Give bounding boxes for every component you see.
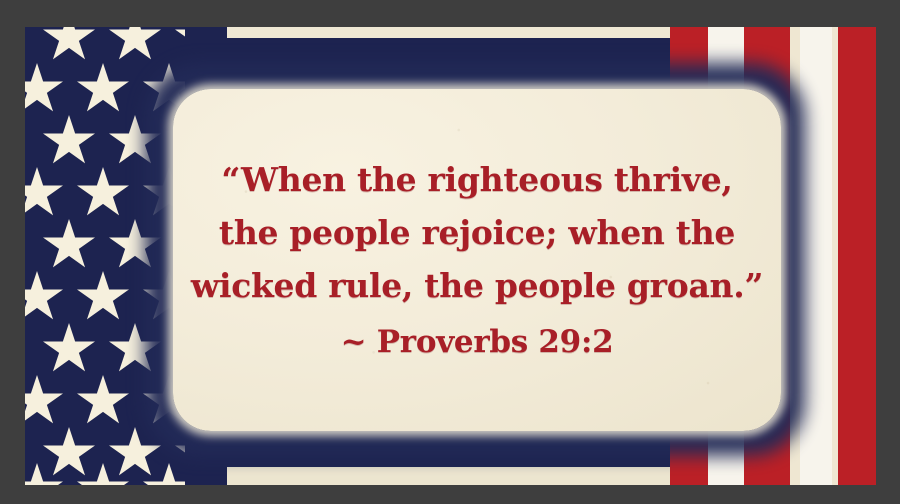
flag-star-icon (77, 63, 129, 115)
flag-star-icon (25, 271, 63, 323)
quote-line-1: “When the righteous thrive, (221, 153, 732, 206)
flag-stripe-red (838, 27, 876, 485)
flag-star-icon (43, 427, 95, 479)
image-frame: “When the righteous thrive, the people r… (0, 0, 900, 504)
flag-star-icon (109, 427, 161, 479)
flag-bottom-cream-band (227, 467, 670, 485)
flag-star-icon (77, 375, 129, 427)
quote-attribution: ~ Proverbs 29:2 (341, 316, 614, 368)
flag-star-icon (25, 63, 63, 115)
flag-top-cream-band (227, 27, 670, 38)
flag-artwork: “When the righteous thrive, the people r… (25, 27, 876, 485)
flag-star-icon (25, 167, 63, 219)
flag-star-icon (43, 323, 95, 375)
flag-star-icon (175, 27, 185, 63)
flag-star-icon (25, 375, 63, 427)
quote-line-3: wicked rule, the people groan.” (191, 259, 763, 312)
flag-star-icon (77, 167, 129, 219)
flag-star-icon (77, 271, 129, 323)
flag-star-icon (43, 219, 95, 271)
flag-star-icon (77, 463, 129, 485)
quote-text-block: “When the righteous thrive, the people r… (173, 89, 781, 431)
flag-star-icon (43, 27, 95, 63)
flag-star-icon (43, 115, 95, 167)
flag-star-icon (109, 27, 161, 63)
quote-line-2: the people rejoice; when the (219, 206, 735, 259)
